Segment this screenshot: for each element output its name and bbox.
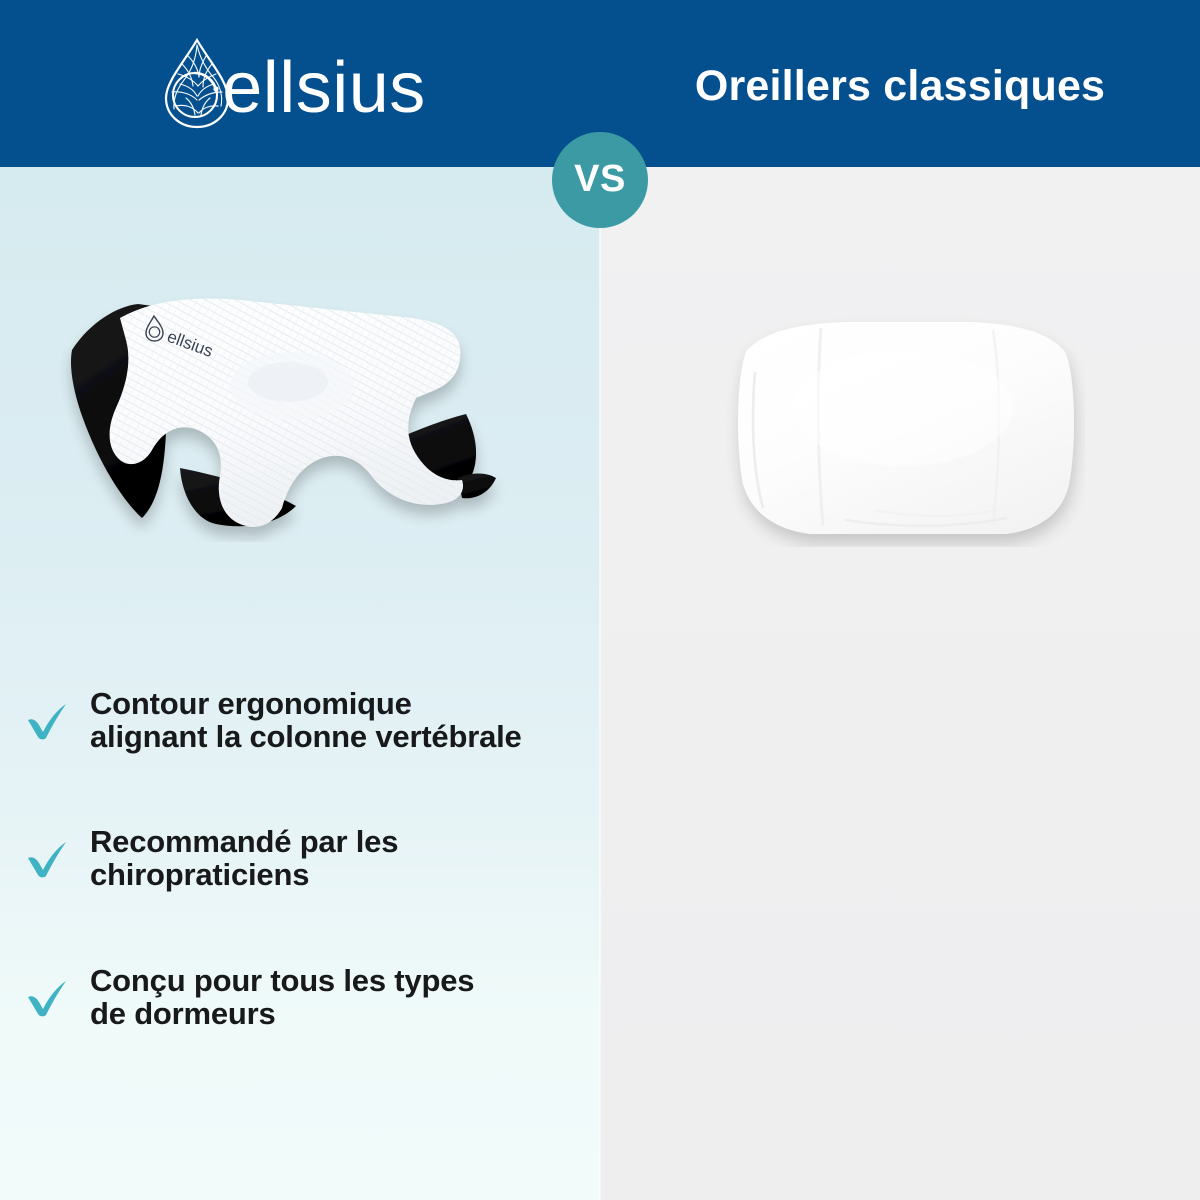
vs-badge: VS — [552, 132, 648, 228]
list-item: Contour ergonomique alignant la colonne … — [18, 687, 580, 753]
check-icon — [18, 700, 76, 740]
check-icon — [18, 977, 76, 1017]
classic-pillow-image — [600, 167, 1200, 667]
advantages-list: Contour ergonomique alignant la colonne … — [0, 687, 600, 1102]
ergonomic-pillow-graphic: ellsius — [60, 282, 540, 542]
ergonomic-pillow-image: ellsius — [0, 167, 600, 667]
page-title: Oreillers classiques — [695, 62, 1105, 111]
comparison-infographic: ellsius Contour ergonomique alignant la … — [0, 0, 1200, 1200]
classic-header: Oreillers classiques — [600, 0, 1200, 167]
list-item-label: Contour ergonomique alignant la colonne … — [76, 687, 580, 753]
classic-pillow-graphic — [725, 312, 1085, 547]
check-icon — [18, 838, 76, 878]
right-column-panel: Ne favorise pas une position de sommeil … — [600, 167, 1200, 1200]
list-item-label: Conçu pour tous les types de dormeurs — [76, 964, 580, 1030]
brand-header: ellsius — [0, 0, 600, 167]
vs-badge-label: VS — [574, 158, 626, 201]
left-column-panel: ellsius Contour ergonomique alignant la … — [0, 167, 600, 1200]
column-divider — [599, 167, 601, 1200]
list-item: Recommandé par les chiropraticiens — [18, 825, 580, 891]
brand-lockup: ellsius — [158, 36, 426, 132]
list-item: Conçu pour tous les types de dormeurs — [18, 964, 580, 1030]
list-item-label: Recommandé par les chiropraticiens — [76, 825, 580, 891]
brand-name: ellsius — [222, 52, 426, 124]
